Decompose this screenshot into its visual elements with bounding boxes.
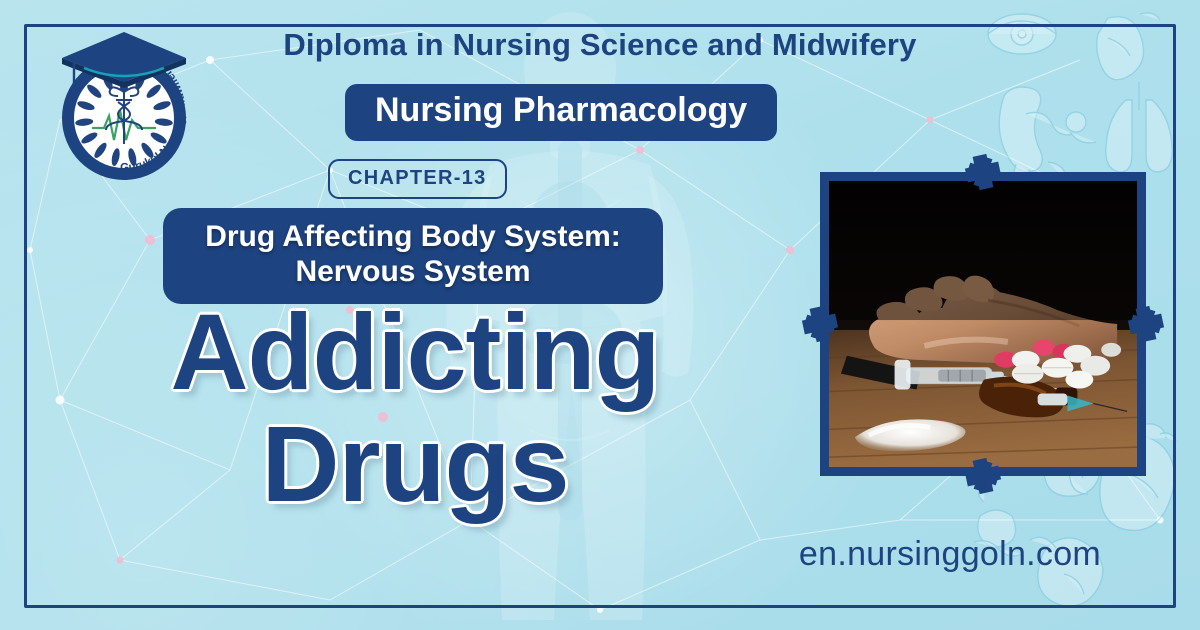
- photo-block: [820, 172, 1146, 476]
- chapter-badge: CHAPTER-13: [328, 159, 507, 199]
- page-title-line-2: Drugs: [60, 412, 770, 516]
- website-url[interactable]: en.nursinggoln.com: [760, 535, 1140, 574]
- gurukul-nursing-logo: Gurukul Nursing, Midwifery & Patient Car…: [44, 30, 204, 190]
- page-title: Addicting Drugs: [60, 300, 770, 515]
- poster-canvas: Gurukul Nursing, Midwifery & Patient Car…: [0, 0, 1200, 630]
- system-topic-badge: Drug Affecting Body System: Nervous Syst…: [163, 208, 663, 304]
- subject-badge: Nursing Pharmacology: [345, 84, 777, 141]
- course-title: Diploma in Nursing Science and Midwifery: [230, 28, 970, 62]
- cross-ornament-bottom: [960, 453, 1006, 499]
- drug-overdose-photo: [820, 172, 1146, 476]
- cross-ornament-right: [1123, 301, 1169, 347]
- cross-ornament-top: [960, 149, 1006, 195]
- cross-ornament-left: [797, 301, 843, 347]
- page-title-line-1: Addicting: [60, 300, 770, 404]
